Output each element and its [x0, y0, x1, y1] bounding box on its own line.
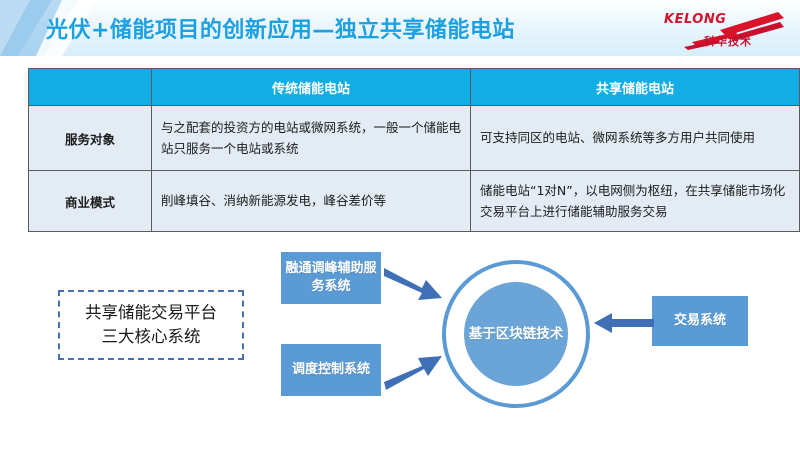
- diagram-center-circle: 基于区块链技术: [442, 260, 590, 408]
- column-header-blank: [29, 69, 152, 106]
- page-title: 光伏+储能项目的创新应用—独立共享储能电站: [46, 12, 515, 44]
- comparison-table: 传统储能电站 共享储能电站 服务对象 与之配套的投资方的电站或微网系统，一般一个…: [28, 68, 800, 232]
- caption-line-2: 三大核心系统: [102, 325, 201, 349]
- diagram-box-dispatch-control: 调度控制系统: [281, 344, 381, 396]
- logo-chinese-name: 科华技术: [704, 33, 752, 49]
- arrow-to-center-right-icon: [594, 310, 656, 336]
- diagram-caption-box: 共享储能交易平台 三大核心系统: [58, 290, 244, 360]
- slide-header: 光伏+储能项目的创新应用—独立共享储能电站 KELONG 科华技术: [0, 0, 800, 56]
- cell-shared-business-model: 储能电站“1对N”，以电网侧为枢纽，在共享储能市场化交易平台上进行储能辅助服务交…: [471, 171, 800, 232]
- cell-traditional-business-model: 削峰填谷、消纳新能源发电，峰谷差价等: [152, 171, 471, 232]
- kelong-logo: KELONG 科华技术: [662, 6, 786, 52]
- logo-wordmark: KELONG: [664, 12, 726, 27]
- circle-core-label: 基于区块链技术: [464, 282, 568, 386]
- table-row: 商业模式 削峰填谷、消纳新能源发电，峰谷差价等 储能电站“1对N”，以电网侧为枢…: [29, 171, 800, 232]
- cell-traditional-service-target: 与之配套的投资方的电站或微网系统，一般一个储能电站只服务一个电站或系统: [152, 106, 471, 171]
- table-row: 服务对象 与之配套的投资方的电站或微网系统，一般一个储能电站只服务一个电站或系统…: [29, 106, 800, 171]
- column-header-traditional: 传统储能电站: [152, 69, 471, 106]
- caption-line-1: 共享储能交易平台: [85, 301, 217, 325]
- architecture-diagram: 共享储能交易平台 三大核心系统 融通调峰辅助服务系统 调度控制系统 交易系统 基…: [0, 238, 800, 450]
- cell-shared-service-target: 可支持同区的电站、微网系统等多方用户共同使用: [471, 106, 800, 171]
- table-header-row: 传统储能电站 共享储能电站: [29, 69, 800, 106]
- diagram-box-trading-system: 交易系统: [652, 296, 748, 346]
- row-label-business-model: 商业模式: [29, 171, 152, 232]
- diagram-box-peak-shaving-service: 融通调峰辅助服务系统: [281, 252, 381, 304]
- row-label-service-target: 服务对象: [29, 106, 152, 171]
- column-header-shared: 共享储能电站: [471, 69, 800, 106]
